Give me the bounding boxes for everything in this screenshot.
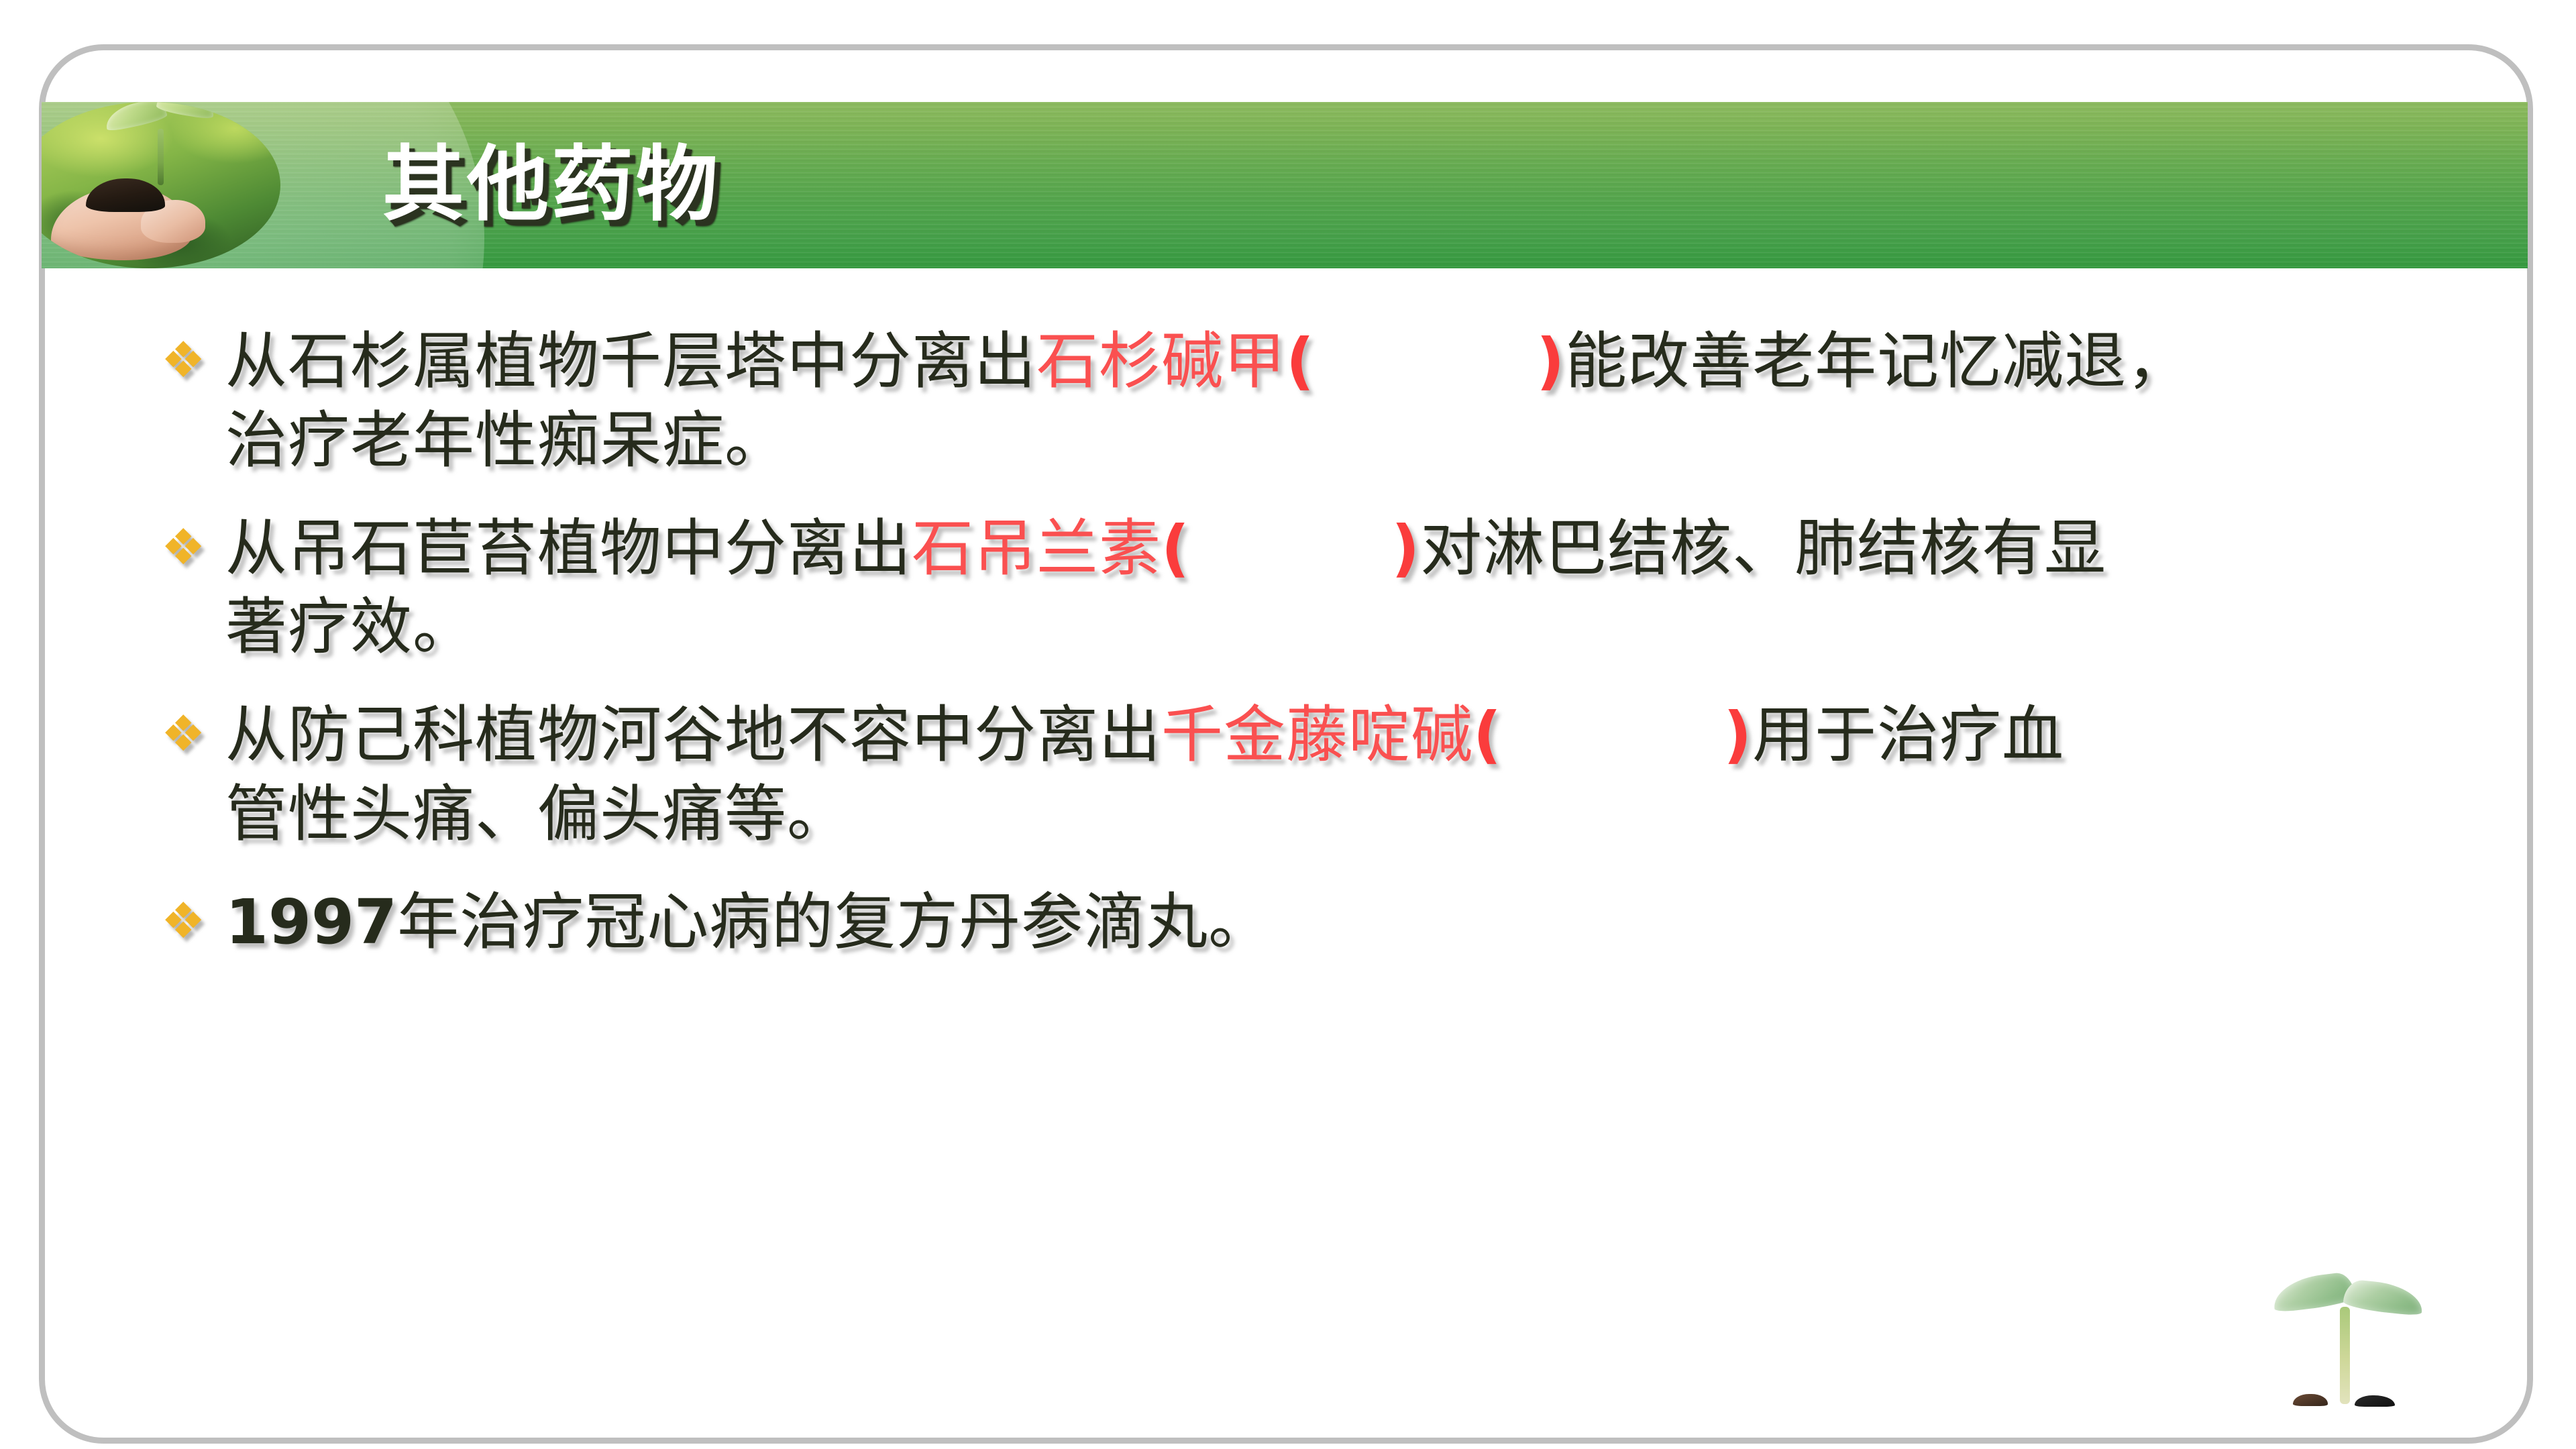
bullet-2-pre: 从吊石苣苔植物中分离出 <box>225 515 912 583</box>
slide-body: ❖ 从石杉属植物千层塔中分离出石杉碱甲()能改善老年记忆减退， 治疗老年性痴呆症… <box>161 322 2415 962</box>
corner-soil-clump-right <box>2355 1395 2395 1407</box>
bullet-1-compound: 石杉碱甲 <box>1036 327 1286 396</box>
bullet-4-body: 年治疗冠心病的复方丹参滴丸。 <box>397 888 1271 957</box>
sprout-stem-shape <box>158 129 164 185</box>
bullet-3-post: 用于治疗血 <box>1752 701 2064 769</box>
bullet-2-compound: 石吊兰素 <box>912 515 1161 583</box>
bullet-item-2: ❖ 从吊石苣苔植物中分离出石吊兰素()对淋巴结核、肺结核有显 著疗效。 <box>161 509 2415 668</box>
bullet-1-pre: 从石杉属植物千层塔中分离出 <box>225 327 1036 396</box>
bullet-3-pre: 从防己科植物河谷地不容中分离出 <box>225 701 1161 769</box>
corner-soil-clump-left <box>2293 1394 2328 1406</box>
bullet-3-compound: 千金藤啶碱 <box>1161 701 1473 769</box>
bullet-2-text: 从吊石苣苔植物中分离出石吊兰素()对淋巴结核、肺结核有显 著疗效。 <box>225 509 2415 668</box>
bullet-3-line2: 管性头痛、偏头痛等。 <box>225 780 849 849</box>
bullet-2-paren-open: ( <box>1161 513 1190 584</box>
bullet-item-4: ❖ 1997年治疗冠心病的复方丹参滴丸。 <box>161 883 2415 963</box>
bullet-3-paren-open: ( <box>1473 699 1502 771</box>
bullet-item-3: ❖ 从防己科植物河谷地不容中分离出千金藤啶碱()用于治疗血 管性头痛、偏头痛等。 <box>161 696 2415 855</box>
corner-leaf-right <box>2343 1279 2424 1316</box>
hands-graphic <box>48 182 216 268</box>
slide: 其他药物 ❖ 从石杉属植物千层塔中分离出石杉碱甲()能改善老年记忆减退， 治疗老… <box>0 0 2576 1449</box>
bullet-4-text: 1997年治疗冠心病的复方丹参滴丸。 <box>225 883 2415 963</box>
bullet-1-post: 能改善老年记忆减退， <box>1565 327 2189 396</box>
photo-background-bokeh <box>42 102 310 268</box>
bullet-2-post: 对淋巴结核、肺结核有显 <box>1420 515 2106 583</box>
bullet-3-paren-close: ) <box>1723 699 1752 771</box>
diamond-bullet-icon: ❖ <box>161 509 225 575</box>
header-photo-hands-seedling <box>42 102 310 268</box>
diamond-bullet-icon: ❖ <box>161 883 225 949</box>
bullet-1-text: 从石杉属植物千层塔中分离出石杉碱甲()能改善老年记忆减退， 治疗老年性痴呆症。 <box>225 322 2415 481</box>
bullet-4-year: 1997 <box>225 886 397 958</box>
bullet-2-line2: 著疗效。 <box>225 593 475 661</box>
bullet-1-line2: 治疗老年性痴呆症。 <box>225 407 787 475</box>
bullet-2-paren-close: ) <box>1391 513 1420 584</box>
soil-mound-shape <box>86 178 165 212</box>
bullet-1-paren-close: ) <box>1536 325 1565 397</box>
bullet-item-1: ❖ 从石杉属植物千层塔中分离出石杉碱甲()能改善老年记忆减退， 治疗老年性痴呆症… <box>161 322 2415 481</box>
diamond-bullet-icon: ❖ <box>161 696 225 761</box>
diamond-bullet-icon: ❖ <box>161 322 225 388</box>
bullet-3-text: 从防己科植物河谷地不容中分离出千金藤啶碱()用于治疗血 管性头痛、偏头痛等。 <box>225 696 2415 855</box>
slide-title: 其他药物 <box>382 144 720 225</box>
bullet-1-paren-open: ( <box>1286 325 1315 397</box>
corner-stem <box>2340 1307 2350 1404</box>
corner-seedling-decoration <box>2269 1248 2443 1442</box>
